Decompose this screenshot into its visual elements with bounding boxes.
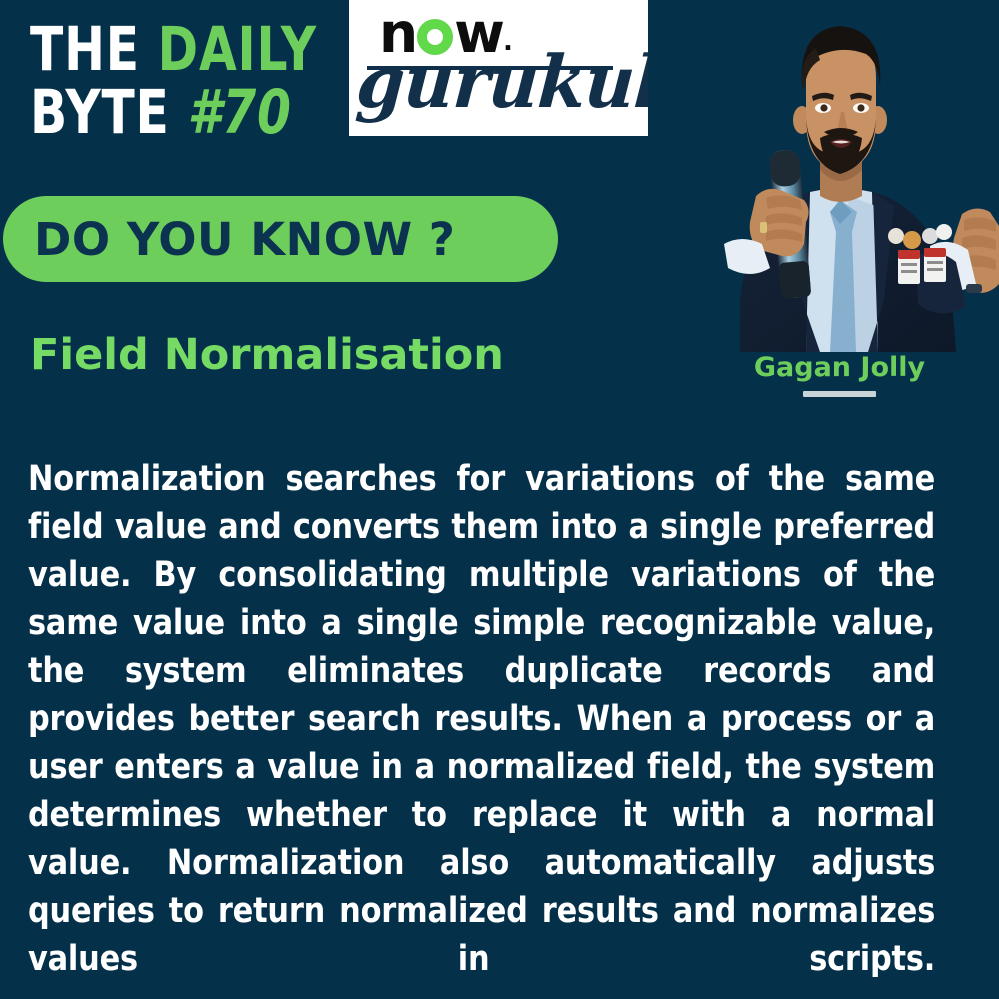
masthead: THE DAILY BYTE #70	[30, 22, 340, 141]
masthead-line-2: BYTE #70	[30, 85, 278, 141]
masthead-line-1: THE DAILY	[30, 22, 278, 78]
speaker-name: Gagan Jolly	[680, 352, 999, 383]
masthead-word-daily: DAILY	[158, 14, 317, 85]
body-paragraph: Normalization searches for variations of…	[28, 455, 935, 999]
topic-title: Field Normalisation	[30, 330, 504, 380]
masthead-word-the: THE	[30, 14, 140, 85]
poster-canvas: THE DAILY BYTE #70 nw. gurukul	[0, 0, 999, 999]
do-you-know-banner: DO YOU KNOW ?	[3, 196, 558, 282]
speaker-portrait-illustration	[680, 0, 999, 352]
brand-logo: nw. gurukul	[349, 0, 648, 136]
speaker-photo	[680, 0, 999, 352]
masthead-word-byte: BYTE	[30, 77, 170, 148]
speaker-name-block: Gagan Jolly	[680, 352, 999, 397]
gurukul-wordmark: gurukul	[354, 46, 628, 118]
masthead-issue-number: #70	[187, 77, 291, 148]
speaker-name-underline	[803, 391, 876, 397]
do-you-know-label: DO YOU KNOW ?	[34, 213, 455, 266]
